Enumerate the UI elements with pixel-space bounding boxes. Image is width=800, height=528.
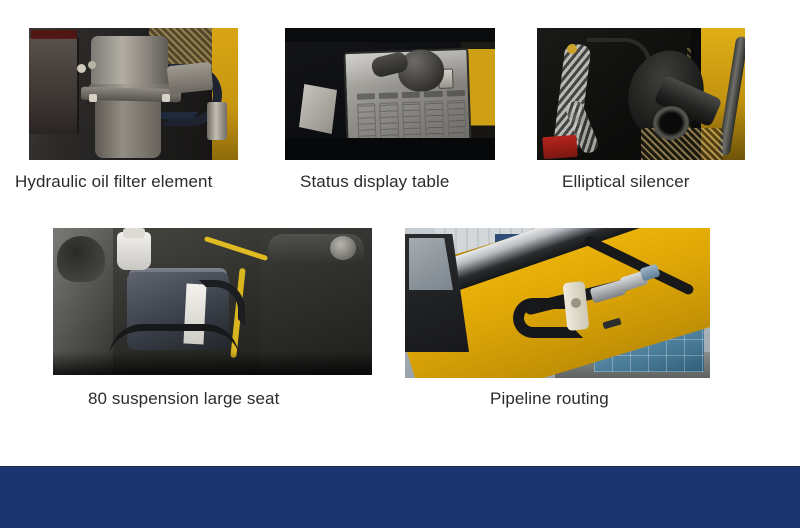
photo-scene: [53, 228, 372, 375]
caption-pipeline-routing: Pipeline routing: [490, 389, 609, 409]
photo-scene: [537, 28, 745, 160]
photo-80-suspension-large-seat[interactable]: [53, 228, 372, 375]
photo-elliptical-silencer[interactable]: [537, 28, 745, 160]
caption-elliptical-silencer: Elliptical silencer: [562, 172, 690, 192]
photo-scene: [405, 228, 710, 378]
photo-pipeline-routing[interactable]: [405, 228, 710, 378]
caption-status-display-table: Status display table: [300, 172, 449, 192]
footer-bar: [0, 466, 800, 528]
gallery-page: Hydraulic oil filter element Status disp…: [0, 0, 800, 528]
photo-scene: [285, 28, 495, 160]
photo-status-display-table[interactable]: [285, 28, 495, 160]
photo-scene: [29, 28, 238, 160]
caption-hydraulic-oil-filter-element: Hydraulic oil filter element: [15, 172, 212, 192]
photo-hydraulic-oil-filter-element[interactable]: [29, 28, 238, 160]
caption-80-suspension-large-seat: 80 suspension large seat: [88, 389, 279, 409]
